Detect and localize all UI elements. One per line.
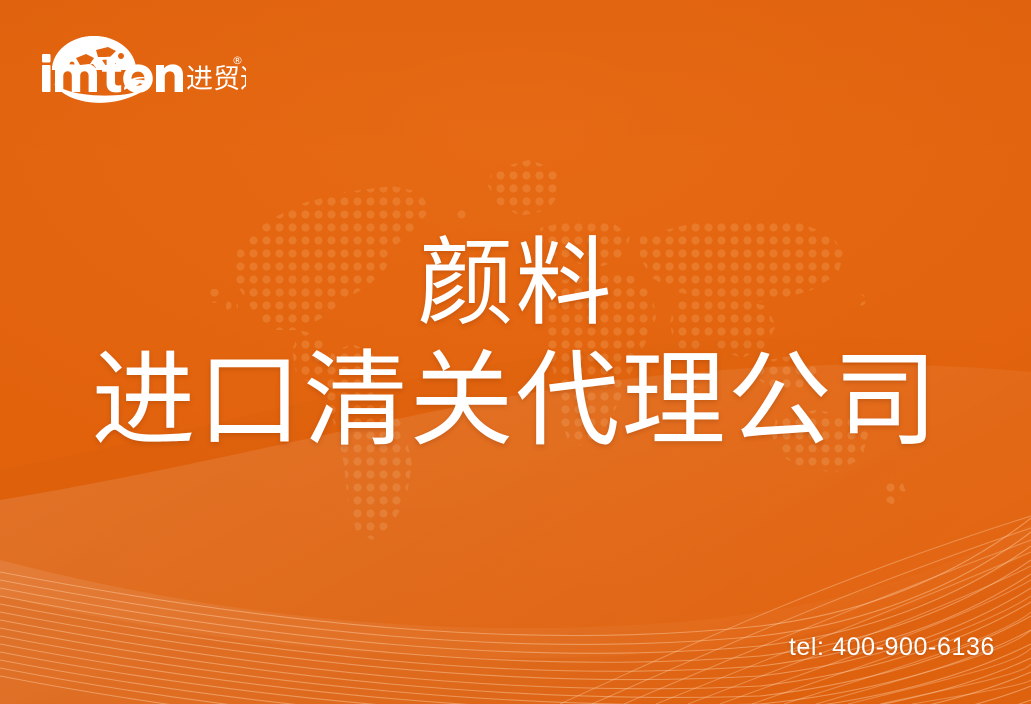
trademark-icon: ® xyxy=(232,54,243,67)
poster-canvas: 进贸通 ® 颜料 进口清关代理公司 tel: 400-900-6136 xyxy=(0,0,1031,704)
contact-phone[interactable]: tel: 400-900-6136 xyxy=(789,632,995,662)
logo-wordmark-chinese: 进贸通 xyxy=(186,64,246,95)
brand-logo[interactable]: 进贸通 ® xyxy=(36,28,246,104)
fan-lines xyxy=(0,0,1031,704)
